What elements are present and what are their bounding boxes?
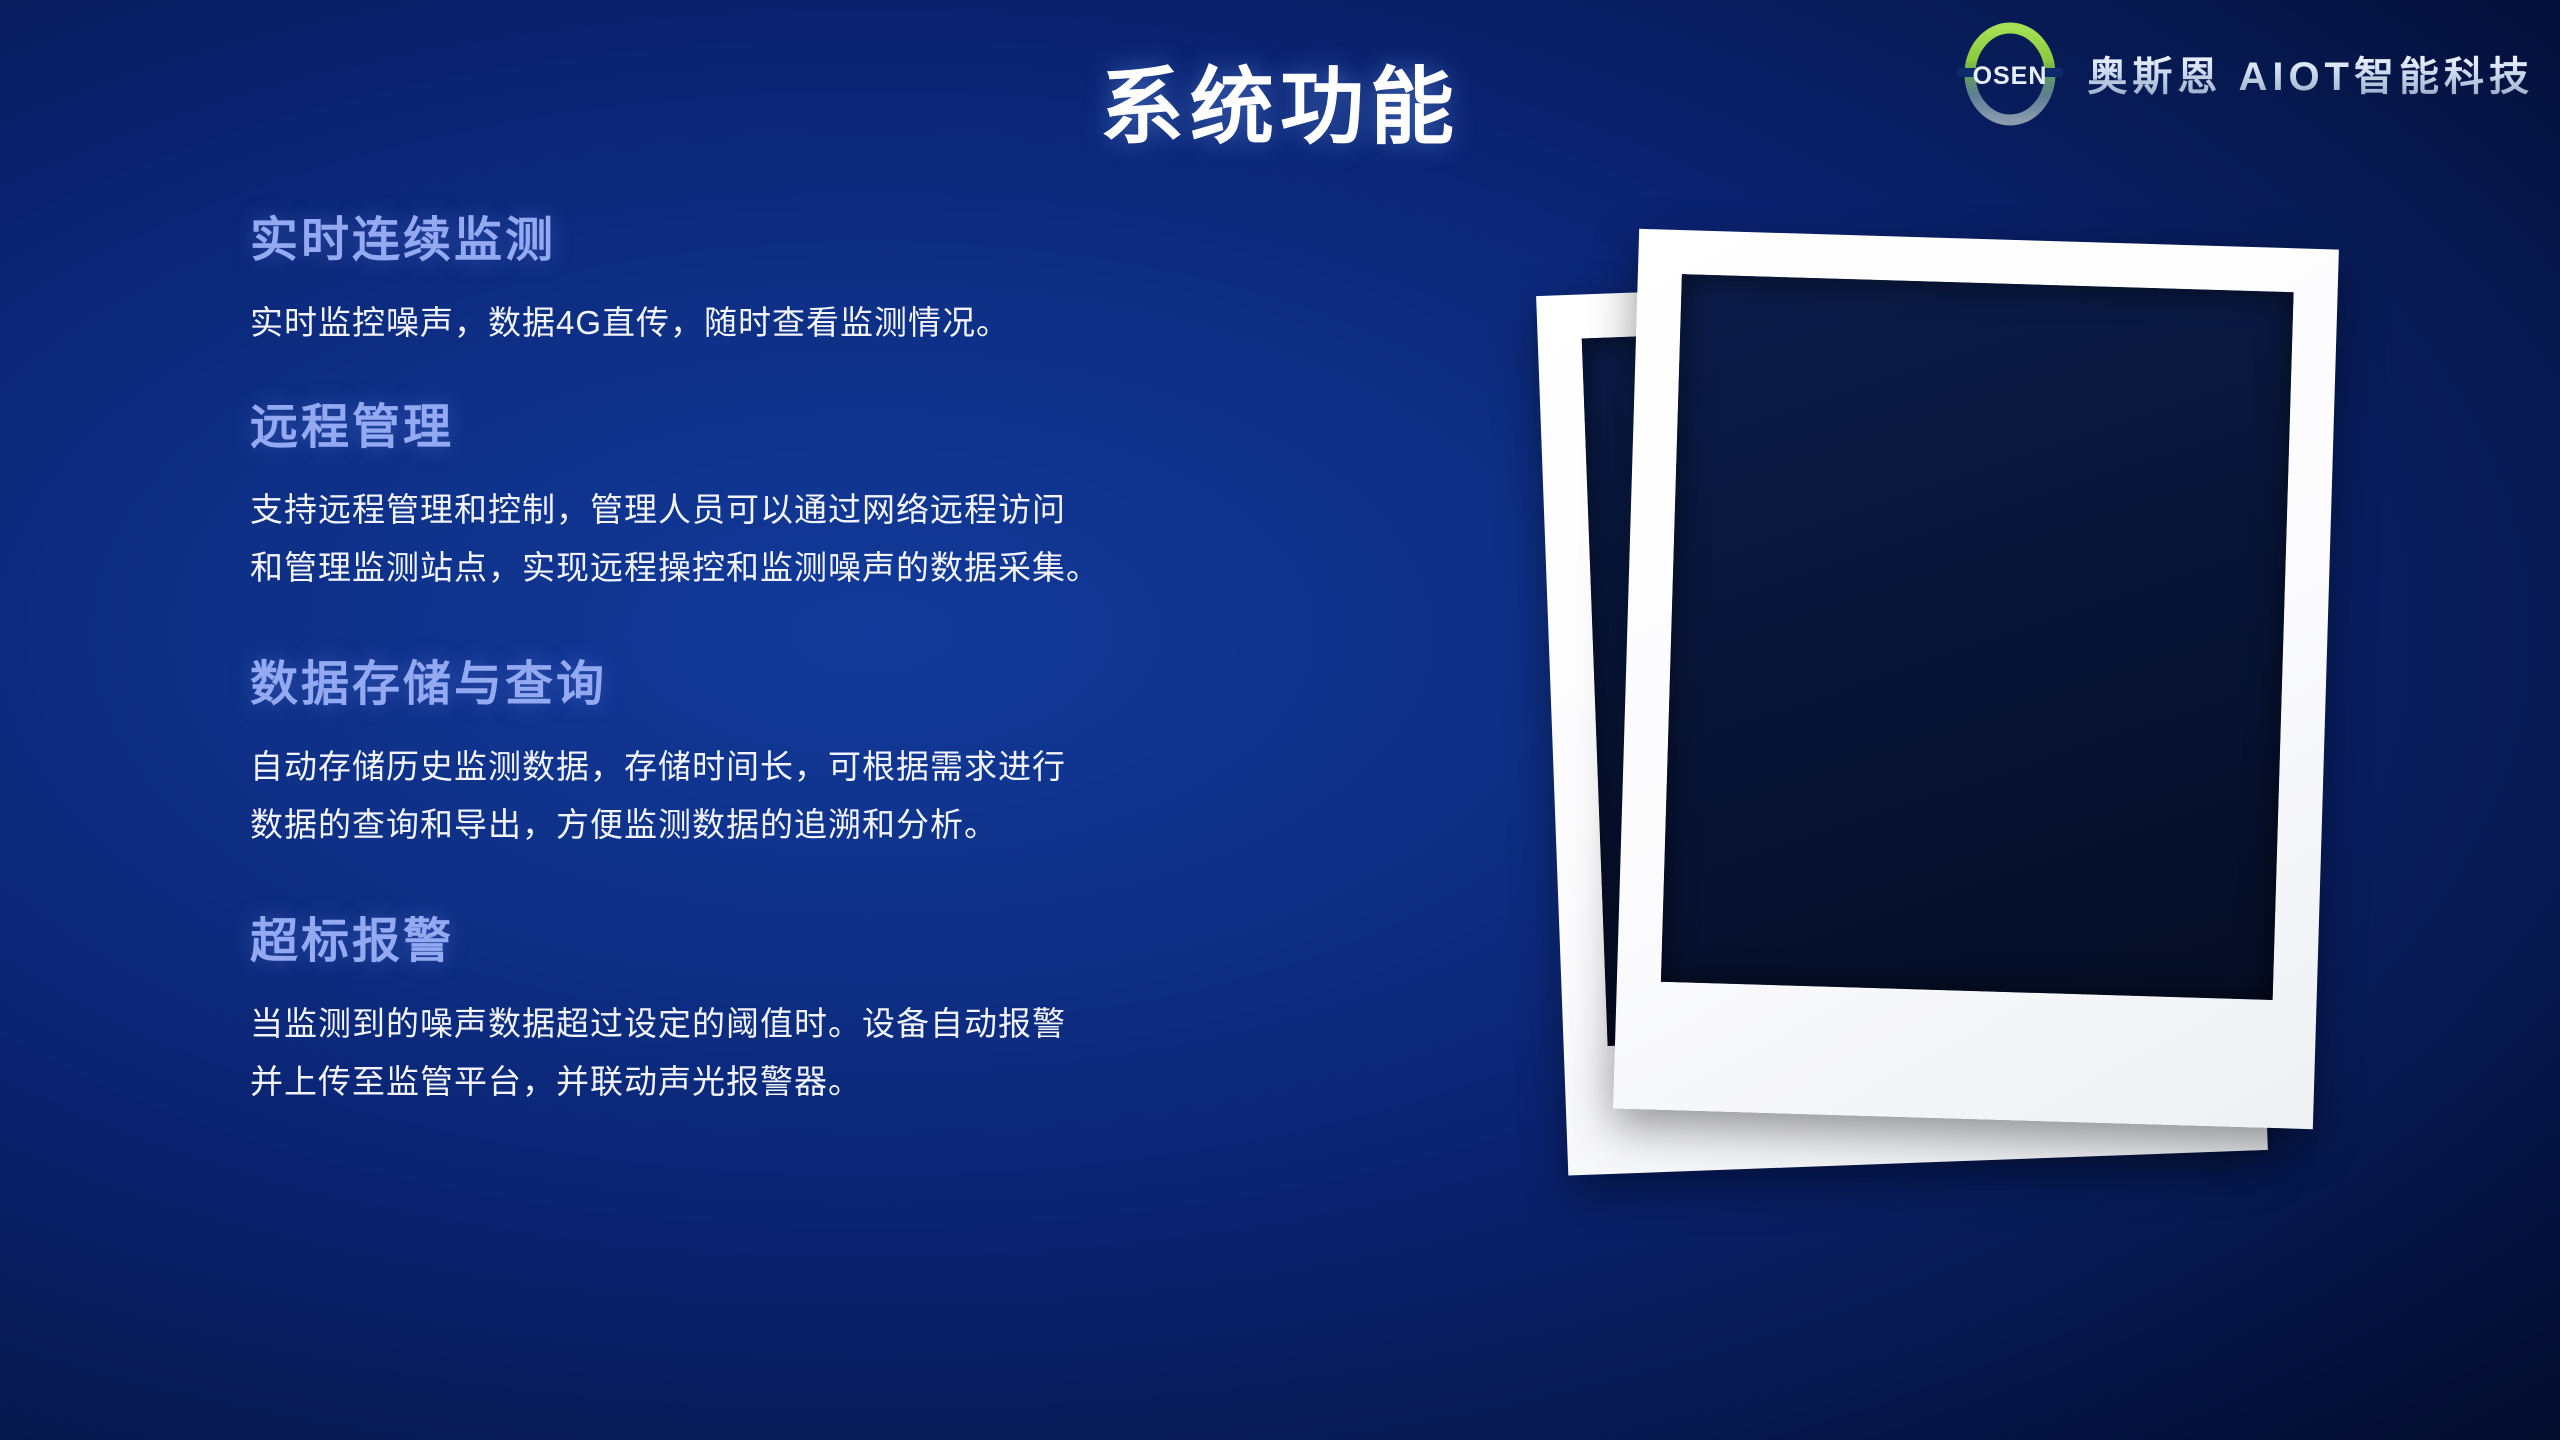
feature-body-4-line-1: 当监测到的噪声数据超过设定的阈值时。设备自动报警 [250, 997, 1330, 1050]
photo-frame-group [1530, 225, 2370, 1265]
feature-title-4: 超标报警 [250, 901, 1370, 971]
feature-block-4: 超标报警 当监测到的噪声数据超过设定的阈值时。设备自动报警 并上传至监管平台，并… [250, 901, 1370, 1108]
feature-body-3-line-1: 自动存储历史监测数据，存储时间长，可根据需求进行 [250, 740, 1330, 793]
feature-body-1-line-1: 实时监控噪声，数据4G直传，随时查看监测情况。 [250, 296, 1330, 349]
photo-frame-front-window [1661, 274, 2294, 1000]
brand-name: 奥斯恩 AIOT智能科技 [2087, 44, 2534, 102]
feature-list: 实时连续监测 实时监控噪声，数据4G直传，随时查看监测情况。 远程管理 支持远程… [250, 200, 1370, 1112]
photo-frame-front [1613, 229, 2339, 1129]
brand-logo: OSEN 奥斯恩 AIOT智能科技 [1951, 14, 2534, 132]
feature-body-2-line-1: 支持远程管理和控制，管理人员可以通过网络远程访问 [250, 483, 1330, 536]
svg-text:OSEN: OSEN [1973, 62, 2048, 90]
feature-block-2: 远程管理 支持远程管理和控制，管理人员可以通过网络远程访问 和管理监测站点，实现… [250, 387, 1370, 594]
osen-ring-icon: OSEN [1951, 14, 2069, 132]
feature-block-1: 实时连续监测 实时监控噪声，数据4G直传，随时查看监测情况。 [250, 200, 1370, 349]
feature-block-3: 数据存储与查询 自动存储历史监测数据，存储时间长，可根据需求进行 数据的查询和导… [250, 644, 1370, 851]
slide-root: 系统功能 OSEN 奥斯恩 AIOT智能科技 [0, 0, 2560, 1440]
feature-body-4: 当监测到的噪声数据超过设定的阈值时。设备自动报警 并上传至监管平台，并联动声光报… [250, 997, 1330, 1108]
feature-body-4-line-2: 并上传至监管平台，并联动声光报警器。 [250, 1055, 1330, 1108]
feature-title-3: 数据存储与查询 [250, 644, 1370, 714]
feature-body-3-line-2: 数据的查询和导出，方便监测数据的追溯和分析。 [250, 798, 1330, 851]
feature-title-2: 远程管理 [250, 387, 1370, 457]
feature-title-1: 实时连续监测 [250, 200, 1370, 270]
feature-body-2: 支持远程管理和控制，管理人员可以通过网络远程访问 和管理监测站点，实现远程操控和… [250, 483, 1330, 594]
feature-body-3: 自动存储历史监测数据，存储时间长，可根据需求进行 数据的查询和导出，方便监测数据… [250, 740, 1330, 851]
feature-body-2-line-2: 和管理监测站点，实现远程操控和监测噪声的数据采集。 [250, 541, 1330, 594]
feature-body-1: 实时监控噪声，数据4G直传，随时查看监测情况。 [250, 296, 1330, 349]
